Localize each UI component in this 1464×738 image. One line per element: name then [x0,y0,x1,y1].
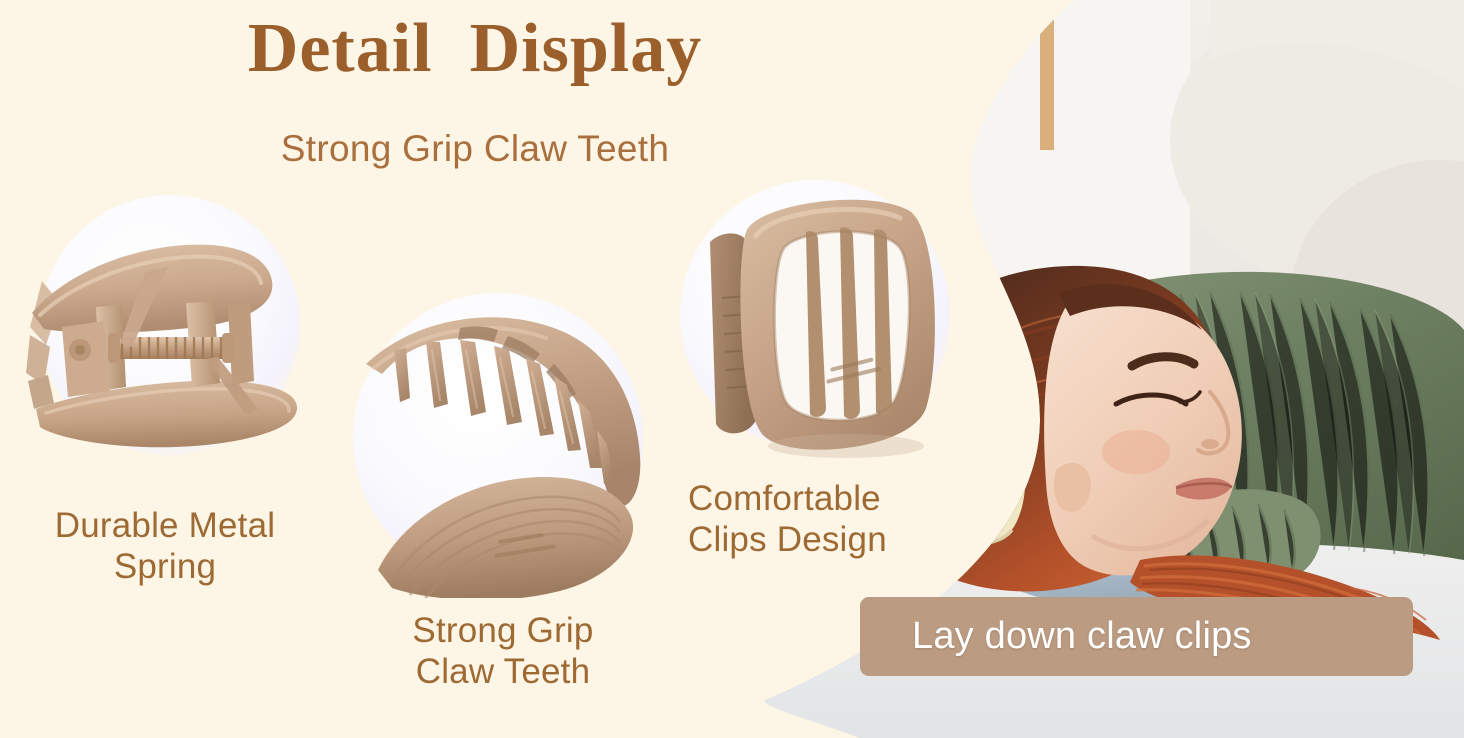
feature-2-caption-line-2: Claw Teeth [353,651,653,692]
banner-label: Lay down claw clips [912,615,1252,658]
page-subtitle: Strong Grip Claw Teeth [150,128,800,170]
feature-durable-metal-spring [0,195,340,515]
hair-claw-clip-teeth-closeup-icon [348,288,658,598]
lay-down-claw-clips-banner: Lay down claw clips [860,597,1413,676]
hair-claw-clip-side-spring-icon [0,195,340,515]
feature-1-caption-line-1: Durable Metal [15,505,315,546]
feature-1-caption: Durable Metal Spring [15,505,315,588]
feature-1-caption-line-2: Spring [15,546,315,587]
feature-2-caption: Strong Grip Claw Teeth [353,610,653,693]
detail-display-banner: Detail Display Strong Grip Claw Teeth [0,0,1464,738]
feature-2-caption-line-1: Strong Grip [353,610,653,651]
page-title: Detail Display [190,14,760,84]
lifestyle-photo-panel: Lay down claw clips [740,0,1464,738]
feature-strong-grip-claw-teeth [348,288,658,598]
